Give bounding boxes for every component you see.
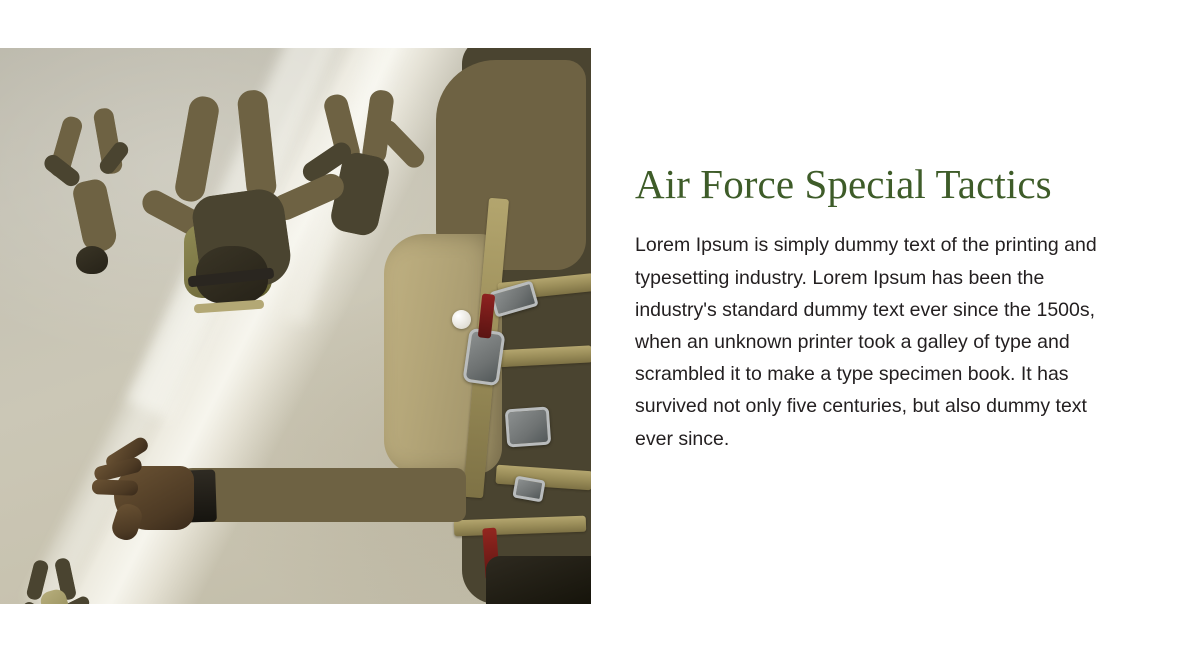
- jumper-finger: [92, 479, 138, 496]
- text-column: Air Force Special Tactics Lorem Ipsum is…: [635, 160, 1105, 455]
- skydiver-leg: [236, 89, 277, 202]
- skydiver-top-center: [138, 96, 388, 346]
- skydiver-helmet: [76, 246, 108, 274]
- ripcord-ball: [452, 310, 471, 329]
- page-title: Air Force Special Tactics: [635, 160, 1105, 208]
- skydiver-leg: [173, 94, 221, 204]
- harness-buckle: [505, 407, 552, 448]
- foreground-jumper: [366, 48, 591, 604]
- skydiver-top-left: [34, 106, 154, 306]
- hero-image: [0, 48, 591, 604]
- skydiver-bottom-left: [16, 560, 100, 604]
- harness-strap: [194, 300, 264, 314]
- slide-canvas: Air Force Special Tactics Lorem Ipsum is…: [0, 0, 1200, 654]
- body-paragraph: Lorem Ipsum is simply dummy text of the …: [635, 229, 1097, 454]
- skydiver-torso: [71, 177, 119, 254]
- jumper-lower-gear: [486, 556, 591, 604]
